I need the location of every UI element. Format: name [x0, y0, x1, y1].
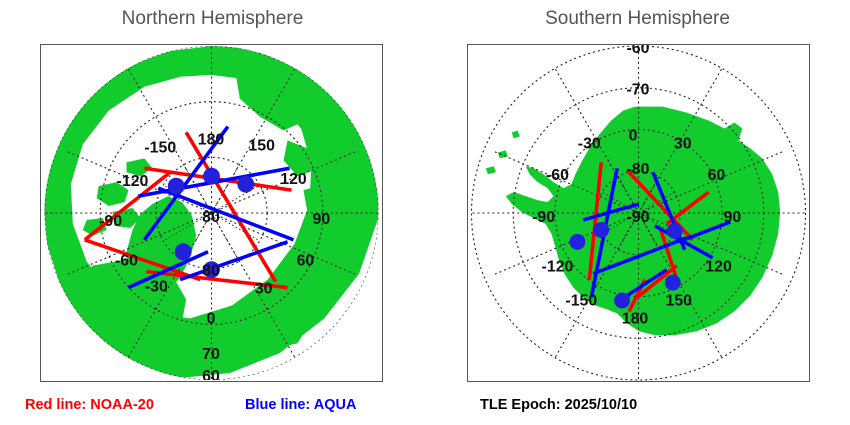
svg-text:90: 90: [313, 211, 331, 228]
svg-text:30: 30: [674, 135, 692, 152]
svg-text:60: 60: [297, 253, 315, 270]
svg-text:-70: -70: [627, 82, 650, 99]
svg-text:-120: -120: [117, 173, 149, 190]
svg-text:120: 120: [280, 171, 307, 188]
svg-text:0: 0: [207, 310, 216, 327]
svg-text:0: 0: [629, 127, 638, 144]
north-hemisphere-panel: Northern Hemisphere: [0, 0, 425, 425]
south-polar-map: -60 -70 -80 -90 0 30 60 90 120 150 180 -…: [468, 45, 809, 381]
south-plot-frame: -60 -70 -80 -90 0 30 60 90 120 150 180 -…: [467, 44, 810, 382]
svg-text:150: 150: [666, 292, 693, 309]
svg-text:150: 150: [248, 137, 275, 154]
north-polar-map: 180 -150 150 -120 120 -90 90 -60 60 -30 …: [41, 45, 382, 381]
svg-text:-90: -90: [627, 209, 650, 226]
svg-text:-60: -60: [627, 45, 650, 57]
svg-text:70: 70: [202, 346, 220, 363]
svg-text:60: 60: [708, 167, 726, 184]
svg-text:60: 60: [202, 368, 220, 381]
svg-text:-30: -30: [578, 135, 601, 152]
legend-tle-epoch: TLE Epoch: 2025/10/10: [480, 397, 637, 413]
south-panel-title: Southern Hemisphere: [425, 8, 850, 30]
svg-text:80: 80: [202, 209, 220, 226]
svg-text:-80: -80: [627, 161, 650, 178]
svg-text:120: 120: [705, 259, 732, 276]
legend-noaa20: Red line: NOAA-20: [25, 397, 154, 413]
north-plot-frame: 180 -150 150 -120 120 -90 90 -60 60 -30 …: [40, 44, 383, 382]
svg-text:180: 180: [198, 131, 225, 148]
legend-aqua: Blue line: AQUA: [245, 397, 356, 413]
svg-text:-150: -150: [144, 139, 176, 156]
svg-text:-60: -60: [115, 253, 138, 270]
svg-text:-120: -120: [542, 259, 574, 276]
svg-text:30: 30: [255, 281, 273, 298]
svg-text:80: 80: [202, 263, 220, 280]
svg-text:180: 180: [622, 310, 649, 327]
svg-text:-30: -30: [145, 279, 168, 296]
south-hemisphere-panel: Southern Hemisphere: [425, 0, 850, 425]
svg-text:90: 90: [724, 209, 742, 226]
svg-text:-150: -150: [565, 292, 597, 309]
svg-text:-90: -90: [99, 213, 122, 230]
north-panel-title: Northern Hemisphere: [0, 8, 425, 30]
satellite-track-figure: Northern Hemisphere: [0, 0, 850, 425]
svg-text:-90: -90: [532, 209, 555, 226]
svg-text:-60: -60: [546, 167, 569, 184]
